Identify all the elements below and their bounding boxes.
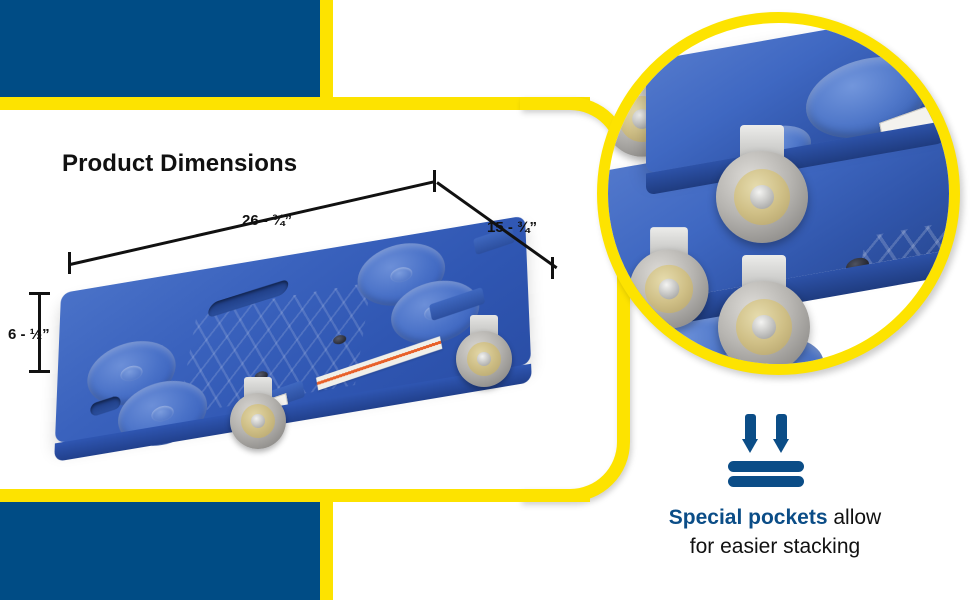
bottom-left-blue-block (0, 502, 320, 600)
caption-rest-text: allow (828, 506, 882, 529)
caster-bolt (251, 414, 265, 428)
caster-wheel (230, 393, 286, 449)
top-yellow-bar (0, 97, 590, 110)
caster-bolt (477, 352, 491, 366)
infographic-canvas: Product Dimensions (0, 0, 970, 600)
page-title: Product Dimensions (62, 150, 297, 178)
caster-bolt (752, 315, 776, 339)
arrow-head (742, 439, 758, 453)
pocket-hub (120, 364, 142, 383)
caster-wheel (629, 249, 708, 328)
bottom-yellow-bar (0, 489, 590, 502)
top-left-blue-block (0, 0, 320, 97)
arrow-shaft (745, 414, 756, 442)
height-tick-bottom (29, 370, 50, 373)
main-product-photo (58, 235, 563, 460)
stack-plate-lower (728, 476, 804, 487)
pocket-hub (151, 404, 174, 423)
height-dimension-label: 6 - ½” (8, 326, 50, 343)
height-tick-top (29, 292, 50, 295)
caster-wheel (456, 331, 512, 387)
caster-wheel (716, 151, 808, 243)
stacking-arrows-icon (728, 414, 804, 484)
stack-plate-upper (728, 461, 804, 472)
caption-strong-text: Special pockets (669, 506, 828, 529)
caster-bolt (750, 185, 774, 209)
arrow-head (773, 439, 789, 453)
handle-slot (90, 395, 122, 417)
pocket-hub (390, 266, 412, 284)
feature-caption: Special pockets allow for easier stackin… (620, 503, 930, 561)
caster-bolt (659, 279, 680, 300)
width-tick-right (433, 170, 436, 192)
inset-detail-photo (597, 12, 960, 375)
depth-tick-right (551, 257, 554, 279)
depth-dimension-label: 15 - ¾” (487, 219, 537, 236)
width-tick-left (68, 252, 71, 274)
stacked-dollies-scene (597, 13, 960, 375)
bottom-yellow-vertical-stripe (320, 490, 333, 600)
caster-wheel (718, 281, 810, 373)
caption-second-line: for easier stacking (690, 535, 860, 558)
top-yellow-vertical-stripe (320, 0, 333, 100)
width-dimension-label: 26 - ¾” (242, 212, 292, 229)
arrow-shaft (776, 414, 787, 442)
